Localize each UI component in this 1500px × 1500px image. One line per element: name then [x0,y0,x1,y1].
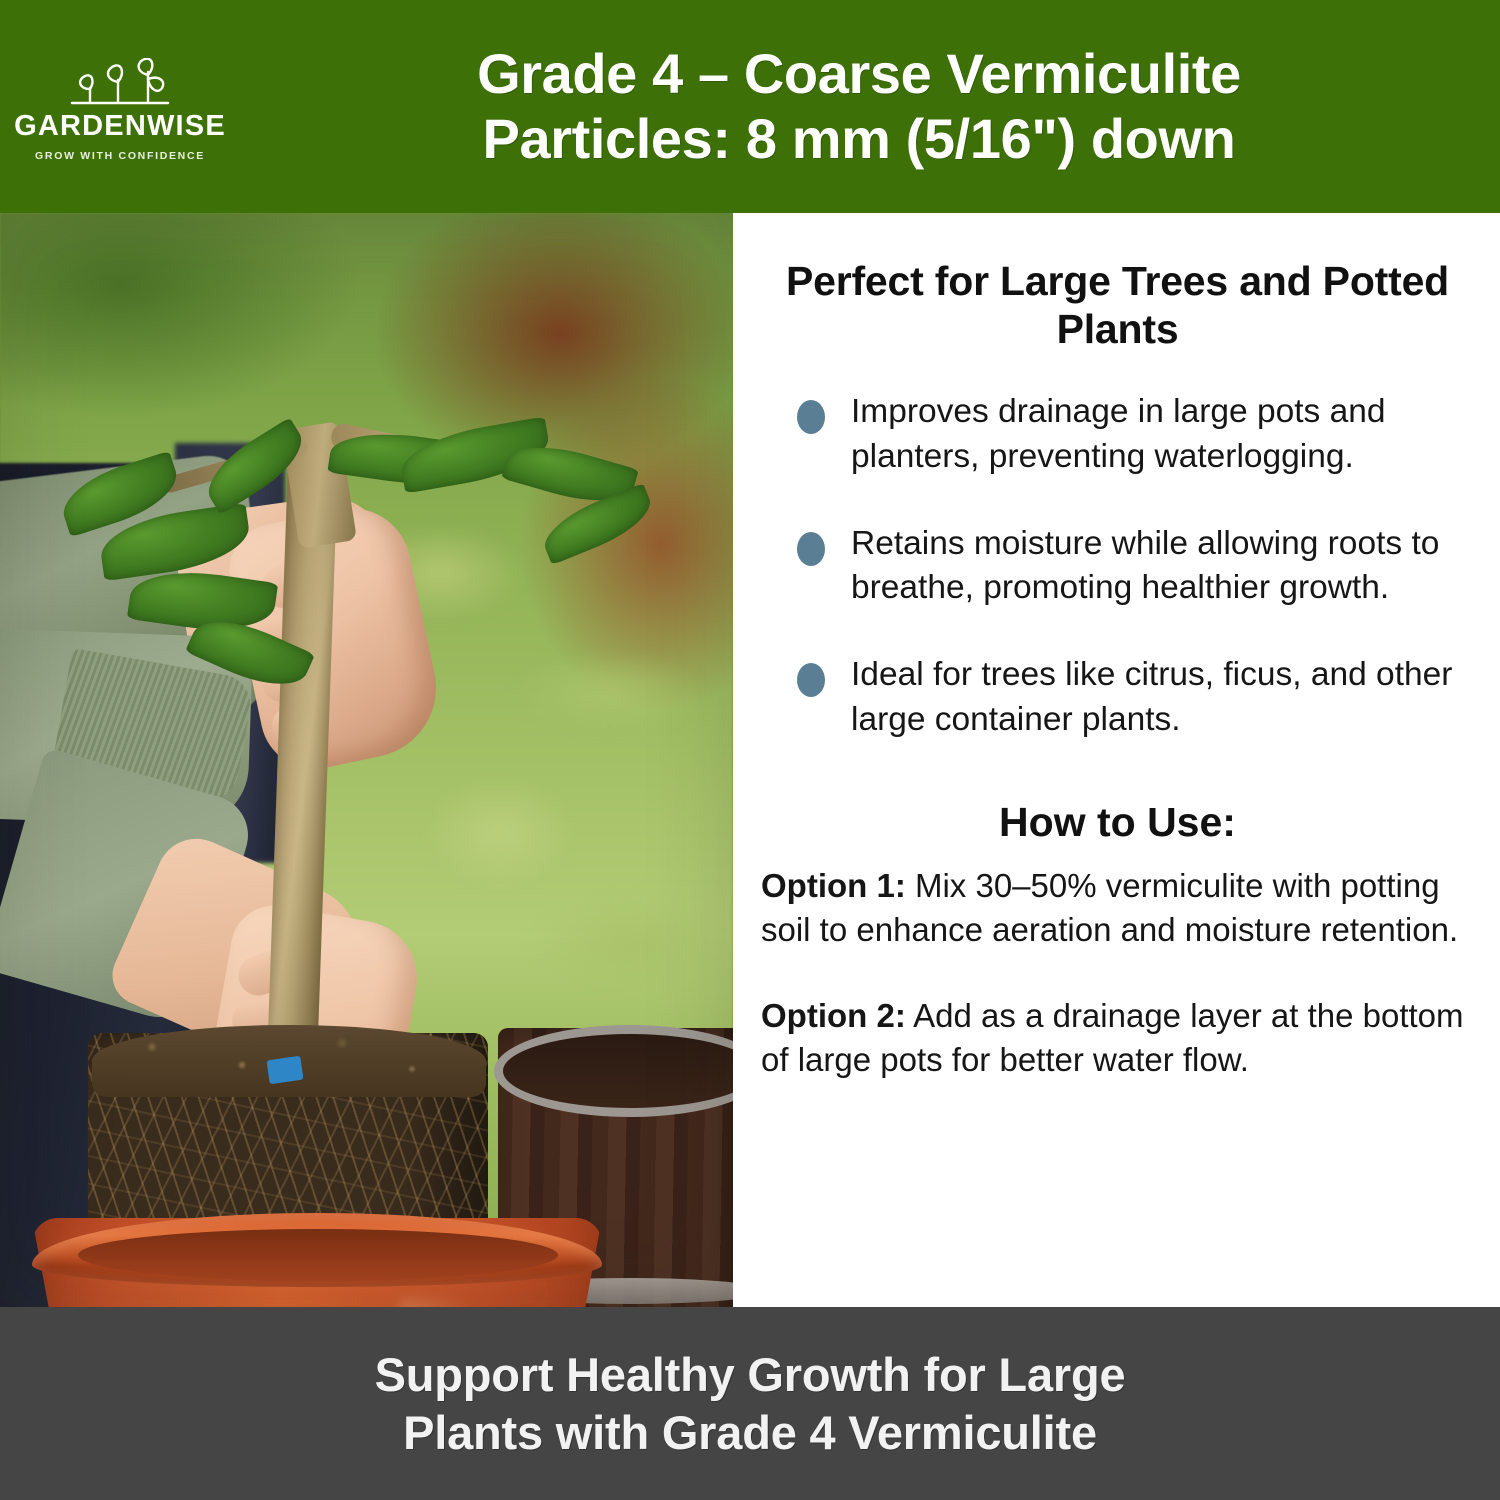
list-item: Retains moisture while allowing roots to… [797,522,1474,612]
benefits-list: Improves drainage in large pots and plan… [761,390,1474,743]
header-banner: GARDENWISE GROW WITH CONFIDENCE Grade 4 … [0,0,1500,213]
footer-line-1: Support Healthy Growth for Large [375,1346,1126,1403]
brand-logo: GARDENWISE GROW WITH CONFIDENCE [0,52,240,162]
panel-heading: Perfect for Large Trees and Potted Plant… [761,257,1474,354]
footer-text: Support Healthy Growth for Large Plants … [375,1346,1126,1461]
product-photo [0,213,733,1307]
photo-grass-bokeh [380,513,733,1033]
bullet-dot-icon [797,663,825,697]
footer-line-2: Plants with Grade 4 Vermiculite [375,1404,1126,1461]
bullet-dot-icon [797,532,825,566]
photo-terracotta-pot-interior [78,1229,558,1281]
photo-blue-plant-label [266,1056,303,1084]
brand-tagline: GROW WITH CONFIDENCE [35,150,205,162]
howto-option-2: Option 2: Add as a drainage layer at the… [761,994,1474,1082]
howto-option-1: Option 1: Mix 30–50% vermiculite with po… [761,864,1474,952]
list-item: Improves drainage in large pots and plan… [797,390,1474,480]
product-infographic: GARDENWISE GROW WITH CONFIDENCE Grade 4 … [0,0,1500,1500]
option-2-label: Option 2: [761,997,906,1034]
bullet-text: Retains moisture while allowing roots to… [851,522,1474,612]
brand-name: GARDENWISE [14,112,226,141]
bullet-text: Improves drainage in large pots and plan… [851,390,1474,480]
main-content: Perfect for Large Trees and Potted Plant… [0,213,1500,1307]
header-title-line-2: Particles: 8 mm (5/16") down [246,107,1472,171]
option-1-label: Option 1: [761,867,906,904]
info-panel: Perfect for Large Trees and Potted Plant… [733,213,1500,1307]
header-title-line-1: Grade 4 – Coarse Vermiculite [246,42,1472,106]
sprout-leaves-icon [60,58,180,110]
footer-banner: Support Healthy Growth for Large Plants … [0,1307,1500,1500]
page-title: Grade 4 – Coarse Vermiculite Particles: … [240,42,1500,171]
list-item: Ideal for trees like citrus, ficus, and … [797,653,1474,743]
bullet-dot-icon [797,400,825,434]
photo-pot-highlight [400,1299,470,1307]
bullet-text: Ideal for trees like citrus, ficus, and … [851,653,1474,743]
howto-heading: How to Use: [761,799,1474,846]
